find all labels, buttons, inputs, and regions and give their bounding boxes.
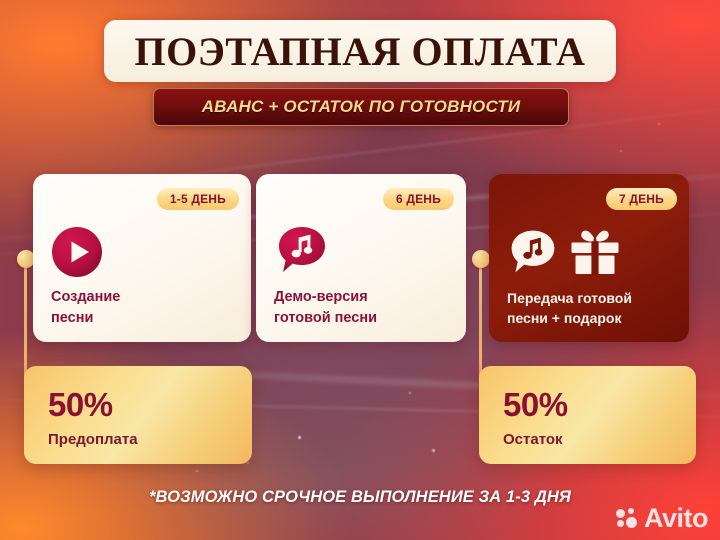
- headline-plate: ПОЭТАПНАЯ ОПЛАТА: [104, 20, 616, 82]
- step-badge-2: 6 ДЕНЬ: [383, 188, 454, 210]
- music-chat-bubble-icon: [507, 226, 559, 283]
- footer-note: *ВОЗМОЖНО СРОЧНОЕ ВЫПОЛНЕНИЕ ЗА 1-3 ДНЯ: [0, 488, 720, 507]
- promo-banner: ПОЭТАПНАЯ ОПЛАТА АВАНС + ОСТАТОК ПО ГОТО…: [0, 0, 720, 540]
- prepayment-percent: 50%: [48, 388, 252, 421]
- balance-percent: 50%: [503, 388, 696, 421]
- step-badge-1: 1-5 ДЕНЬ: [157, 188, 239, 210]
- play-circle-icon: [51, 226, 103, 283]
- avito-watermark: Avito: [616, 505, 708, 532]
- step-icons-3: [507, 226, 621, 283]
- gift-icon: [569, 227, 621, 282]
- page-title: ПОЭТАПНАЯ ОПЛАТА: [135, 28, 586, 75]
- payment-panel-prepayment[interactable]: 50% Предоплата: [24, 366, 252, 464]
- step-badge-3: 7 ДЕНЬ: [606, 188, 677, 210]
- step-label-2: Демо-версия готовой песни: [274, 287, 377, 328]
- step-icons-2: [274, 222, 330, 283]
- music-chat-bubble-icon: [274, 222, 330, 283]
- subtitle-ribbon: АВАНС + ОСТАТОК ПО ГОТОВНОСТИ: [153, 88, 569, 126]
- avito-wordmark: Avito: [644, 505, 708, 532]
- step-card-3[interactable]: 7 ДЕНЬ: [489, 174, 689, 342]
- subtitle-text: АВАНС + ОСТАТОК ПО ГОТОВНОСТИ: [202, 97, 521, 117]
- prepayment-caption: Предоплата: [48, 431, 252, 448]
- payment-panel-balance[interactable]: 50% Остаток: [479, 366, 696, 464]
- connector-line-right: [479, 258, 482, 386]
- balance-caption: Остаток: [503, 431, 696, 448]
- step-card-1[interactable]: 1-5 ДЕНЬ Создание песни: [33, 174, 251, 342]
- avito-dots-icon: [616, 508, 638, 530]
- step-label-3: Передача готовой песни + подарок: [507, 289, 632, 329]
- step-label-1: Создание песни: [51, 287, 120, 328]
- step-card-2[interactable]: 6 ДЕНЬ: [256, 174, 466, 342]
- step-icons-1: [51, 226, 103, 283]
- connector-dot-right: [472, 250, 490, 268]
- connector-line-left: [24, 258, 27, 386]
